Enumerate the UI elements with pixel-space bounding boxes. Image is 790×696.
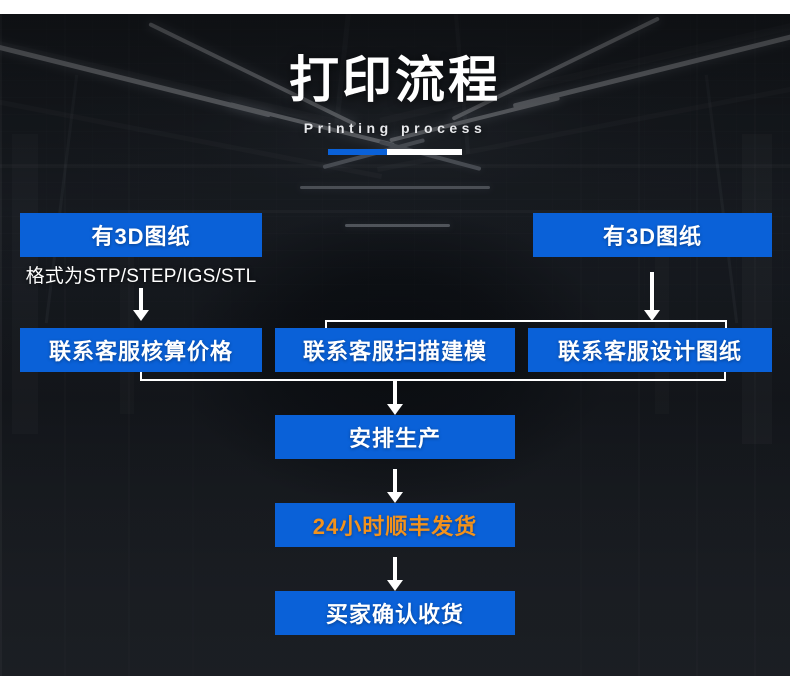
node-has-3d-drawing-left[interactable]: 有3D图纸 <box>20 213 262 257</box>
connector-bottom-rail <box>140 379 726 381</box>
arrow-right-branch-down <box>644 272 660 321</box>
arrow-to-shipping <box>387 469 403 503</box>
arrow-head <box>387 492 403 503</box>
arrow-shaft <box>650 272 654 310</box>
node-contact-service-quote[interactable]: 联系客服核算价格 <box>20 328 262 372</box>
arrow-shaft <box>393 469 397 492</box>
arrow-head <box>387 404 403 415</box>
arrow-to-confirm-receipt <box>387 557 403 591</box>
printing-process-flowchart: 有3D图纸 有3D图纸 格式为STP/STEP/IGS/STL 联系客服核算价格… <box>0 0 790 696</box>
connector-bottom-rail-left-stub <box>140 372 142 380</box>
arrow-left-branch-down <box>133 288 149 321</box>
arrow-to-production <box>387 381 403 415</box>
arrow-shaft <box>139 288 143 310</box>
arrow-head <box>133 310 149 321</box>
node-has-3d-drawing-right[interactable]: 有3D图纸 <box>533 213 772 257</box>
arrow-head <box>387 580 403 591</box>
arrow-shaft <box>393 381 397 404</box>
node-contact-service-design-drawing[interactable]: 联系客服设计图纸 <box>528 328 772 372</box>
node-arrange-production[interactable]: 安排生产 <box>275 415 515 459</box>
promo-flowchart-page: 打印流程 Printing process 有3D图纸 有3D图纸 格式为STP… <box>0 0 790 696</box>
node-contact-service-scan-model[interactable]: 联系客服扫描建模 <box>275 328 515 372</box>
connector-bottom-rail-right-stub <box>724 372 726 380</box>
node-24h-sf-express-shipping[interactable]: 24小时顺丰发货 <box>275 503 515 547</box>
format-caption: 格式为STP/STEP/IGS/STL <box>14 261 268 288</box>
node-buyer-confirm-receipt[interactable]: 买家确认收货 <box>275 591 515 635</box>
arrow-shaft <box>393 557 397 580</box>
connector-top-rail <box>325 320 727 322</box>
